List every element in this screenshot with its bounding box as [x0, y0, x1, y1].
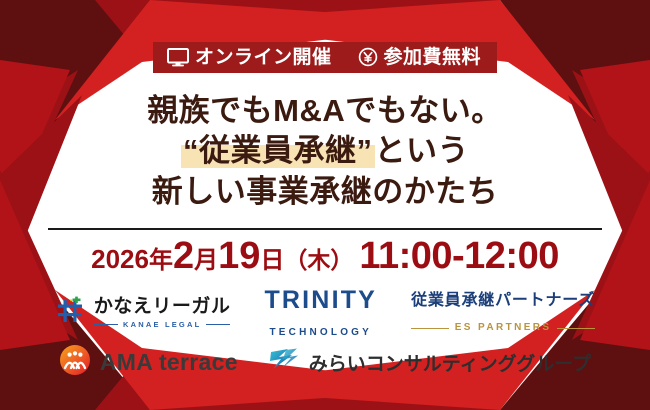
title-quote-open: “	[183, 133, 199, 168]
monitor-icon	[167, 48, 189, 67]
kanae-name-jp: かなえリーガル	[94, 297, 231, 318]
title-line-1: 親族でもM&Aでもない。	[0, 92, 650, 130]
kanae-mark-icon	[55, 296, 85, 331]
kanae-text-block: かなえリーガル KANAE LEGAL	[94, 297, 231, 329]
logo-es-partners[interactable]: 従業員承継パートナーズ ES PARTNERS	[411, 293, 595, 333]
mirai-label: みらいコンサルティンググループ	[309, 349, 591, 376]
title-keyword: 従業員承継	[199, 133, 357, 168]
date-month-unit: 月	[194, 247, 218, 274]
badge-label-online: オンライン開催	[195, 48, 332, 67]
badge-row: オンライン開催 参加費無料	[0, 42, 650, 73]
divider	[48, 228, 602, 230]
title-line-2-tail: という	[375, 133, 470, 168]
sponsor-row-2: AMA terrace みらいコンサルティンググループ	[0, 344, 650, 381]
ama-terrace-mark-icon	[59, 344, 91, 381]
date-month: 2	[173, 235, 194, 277]
logo-mirai-consulting-group[interactable]: みらいコンサルティンググループ	[268, 347, 591, 378]
es-partners-name-en: ES PARTNERS	[411, 323, 595, 333]
title-line-3: 新しい事業承継のかたち	[0, 173, 650, 211]
title-line-2-highlight: “従業員承継”	[181, 133, 375, 168]
date-year-unit: 年	[149, 247, 173, 274]
badge-item-free: 参加費無料	[358, 47, 482, 67]
event-badge: オンライン開催 参加費無料	[153, 42, 497, 73]
kanae-name-en: KANAE LEGAL	[94, 320, 231, 329]
deco-shape-t-mid	[95, 0, 500, 48]
date-day: 19	[218, 235, 260, 277]
ama-terrace-label: AMA terrace	[100, 349, 238, 376]
yen-circle-icon	[358, 47, 378, 67]
sponsor-row-1: かなえリーガル KANAE LEGAL TRINITY TECHNOLOGY 従…	[0, 288, 650, 338]
badge-label-free: 参加費無料	[384, 48, 482, 67]
title-line-2: “従業員承継”という	[0, 132, 650, 170]
banner-title: 親族でもM&Aでもない。 “従業員承継”という 新しい事業承継のかたち	[0, 92, 650, 211]
title-quote-close: ”	[357, 133, 373, 168]
logo-kanae-legal[interactable]: かなえリーガル KANAE LEGAL	[55, 296, 231, 331]
trinity-subtitle: TECHNOLOGY	[269, 328, 372, 338]
logo-trinity-technology[interactable]: TRINITY TECHNOLOGY	[264, 288, 377, 338]
trinity-wordmark: TRINITY	[264, 288, 377, 313]
logo-ama-terrace[interactable]: AMA terrace	[59, 344, 238, 381]
es-partners-name-jp: 従業員承継パートナーズ	[411, 293, 595, 309]
date-time: 11:00-12:00	[359, 235, 558, 277]
mirai-mark-icon	[268, 347, 300, 378]
event-banner: オンライン開催 参加費無料 親族でもM&Aでもない。 “従業員承継”という 新	[0, 0, 650, 410]
date-weekday: （木）	[284, 247, 353, 273]
date-year: 2026	[91, 244, 149, 274]
event-datetime: 2026年2月19日（木）11:00-12:00	[0, 237, 650, 275]
date-day-unit: 日	[260, 247, 284, 274]
badge-item-online: オンライン開催	[167, 48, 332, 67]
